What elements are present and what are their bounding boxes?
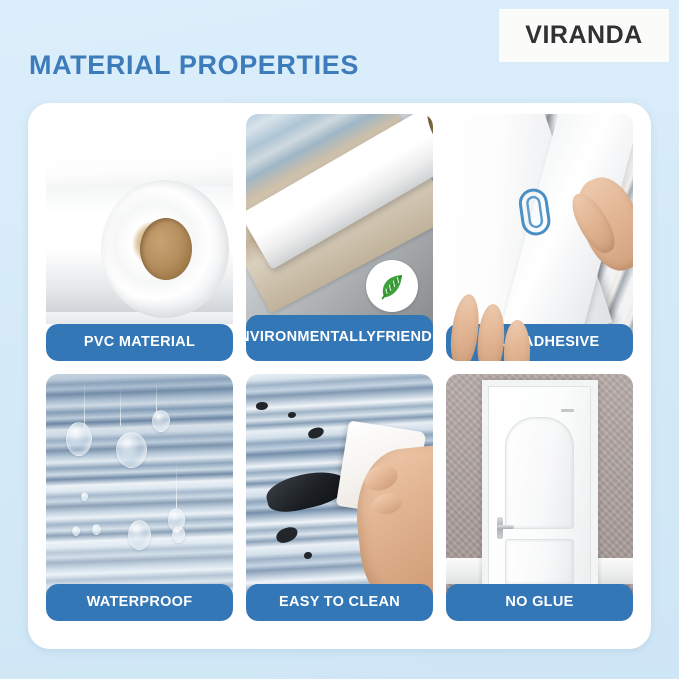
roll-cardboard-core [140, 218, 192, 280]
water-streak [84, 378, 85, 430]
door-panel-bottom [505, 539, 574, 585]
label-line-1: ENVIRONMENTALLY [246, 329, 376, 345]
water-droplet [81, 492, 88, 501]
water-streak [156, 380, 157, 414]
feature-label-environmentally-friendly: ENVIRONMENTALLY FRIENDLY [246, 315, 433, 361]
feature-card-no-glue[interactable]: NO GLUE [446, 374, 633, 621]
feature-card-easy-to-clean[interactable]: EASY TO CLEAN [246, 374, 433, 621]
page-title: MATERIAL PROPERTIES [29, 50, 359, 81]
feature-label-no-glue: NO GLUE [446, 584, 633, 621]
feature-card-environmentally-friendly[interactable]: ENVIRONMENTALLY FRIENDLY [246, 114, 433, 361]
water-droplet [152, 410, 170, 432]
water-droplet [128, 520, 151, 550]
feature-grid: PVC MATERIAL [46, 114, 633, 621]
water-droplet [72, 526, 80, 536]
feature-card-self-adhesive[interactable]: SELF-ADHESIVE [446, 114, 633, 361]
door-panel-top [505, 417, 574, 529]
infographic-poster: VIRANDA MATERIAL PROPERTIES PVC MATERIAL [0, 0, 679, 679]
brand-name: VIRANDA [525, 21, 642, 50]
feature-label-pvc-material: PVC MATERIAL [46, 324, 233, 361]
brand-logo-box: VIRANDA [499, 9, 669, 62]
water-droplet [92, 524, 101, 535]
door-frame [482, 380, 598, 590]
eco-leaf-badge [366, 260, 418, 312]
water-droplet [116, 432, 147, 468]
eco-leaf-icon [375, 269, 409, 303]
water-droplet [172, 526, 185, 543]
feature-card-pvc-material[interactable]: PVC MATERIAL [46, 114, 233, 361]
feature-label-waterproof: WATERPROOF [46, 584, 233, 621]
label-line-2: FRIENDLY [376, 329, 433, 345]
roll-shadow [46, 298, 233, 324]
water-streak [120, 386, 121, 426]
water-droplet [66, 422, 92, 456]
door-leaf [488, 386, 591, 590]
water-streak [176, 462, 177, 508]
door-top-latch [561, 409, 574, 412]
roll-inner-end [421, 114, 433, 164]
content-panel: PVC MATERIAL [28, 103, 651, 649]
door-handle-lever [497, 525, 514, 529]
feature-card-waterproof[interactable]: WATERPROOF [46, 374, 233, 621]
feature-label-easy-to-clean: EASY TO CLEAN [246, 584, 433, 621]
